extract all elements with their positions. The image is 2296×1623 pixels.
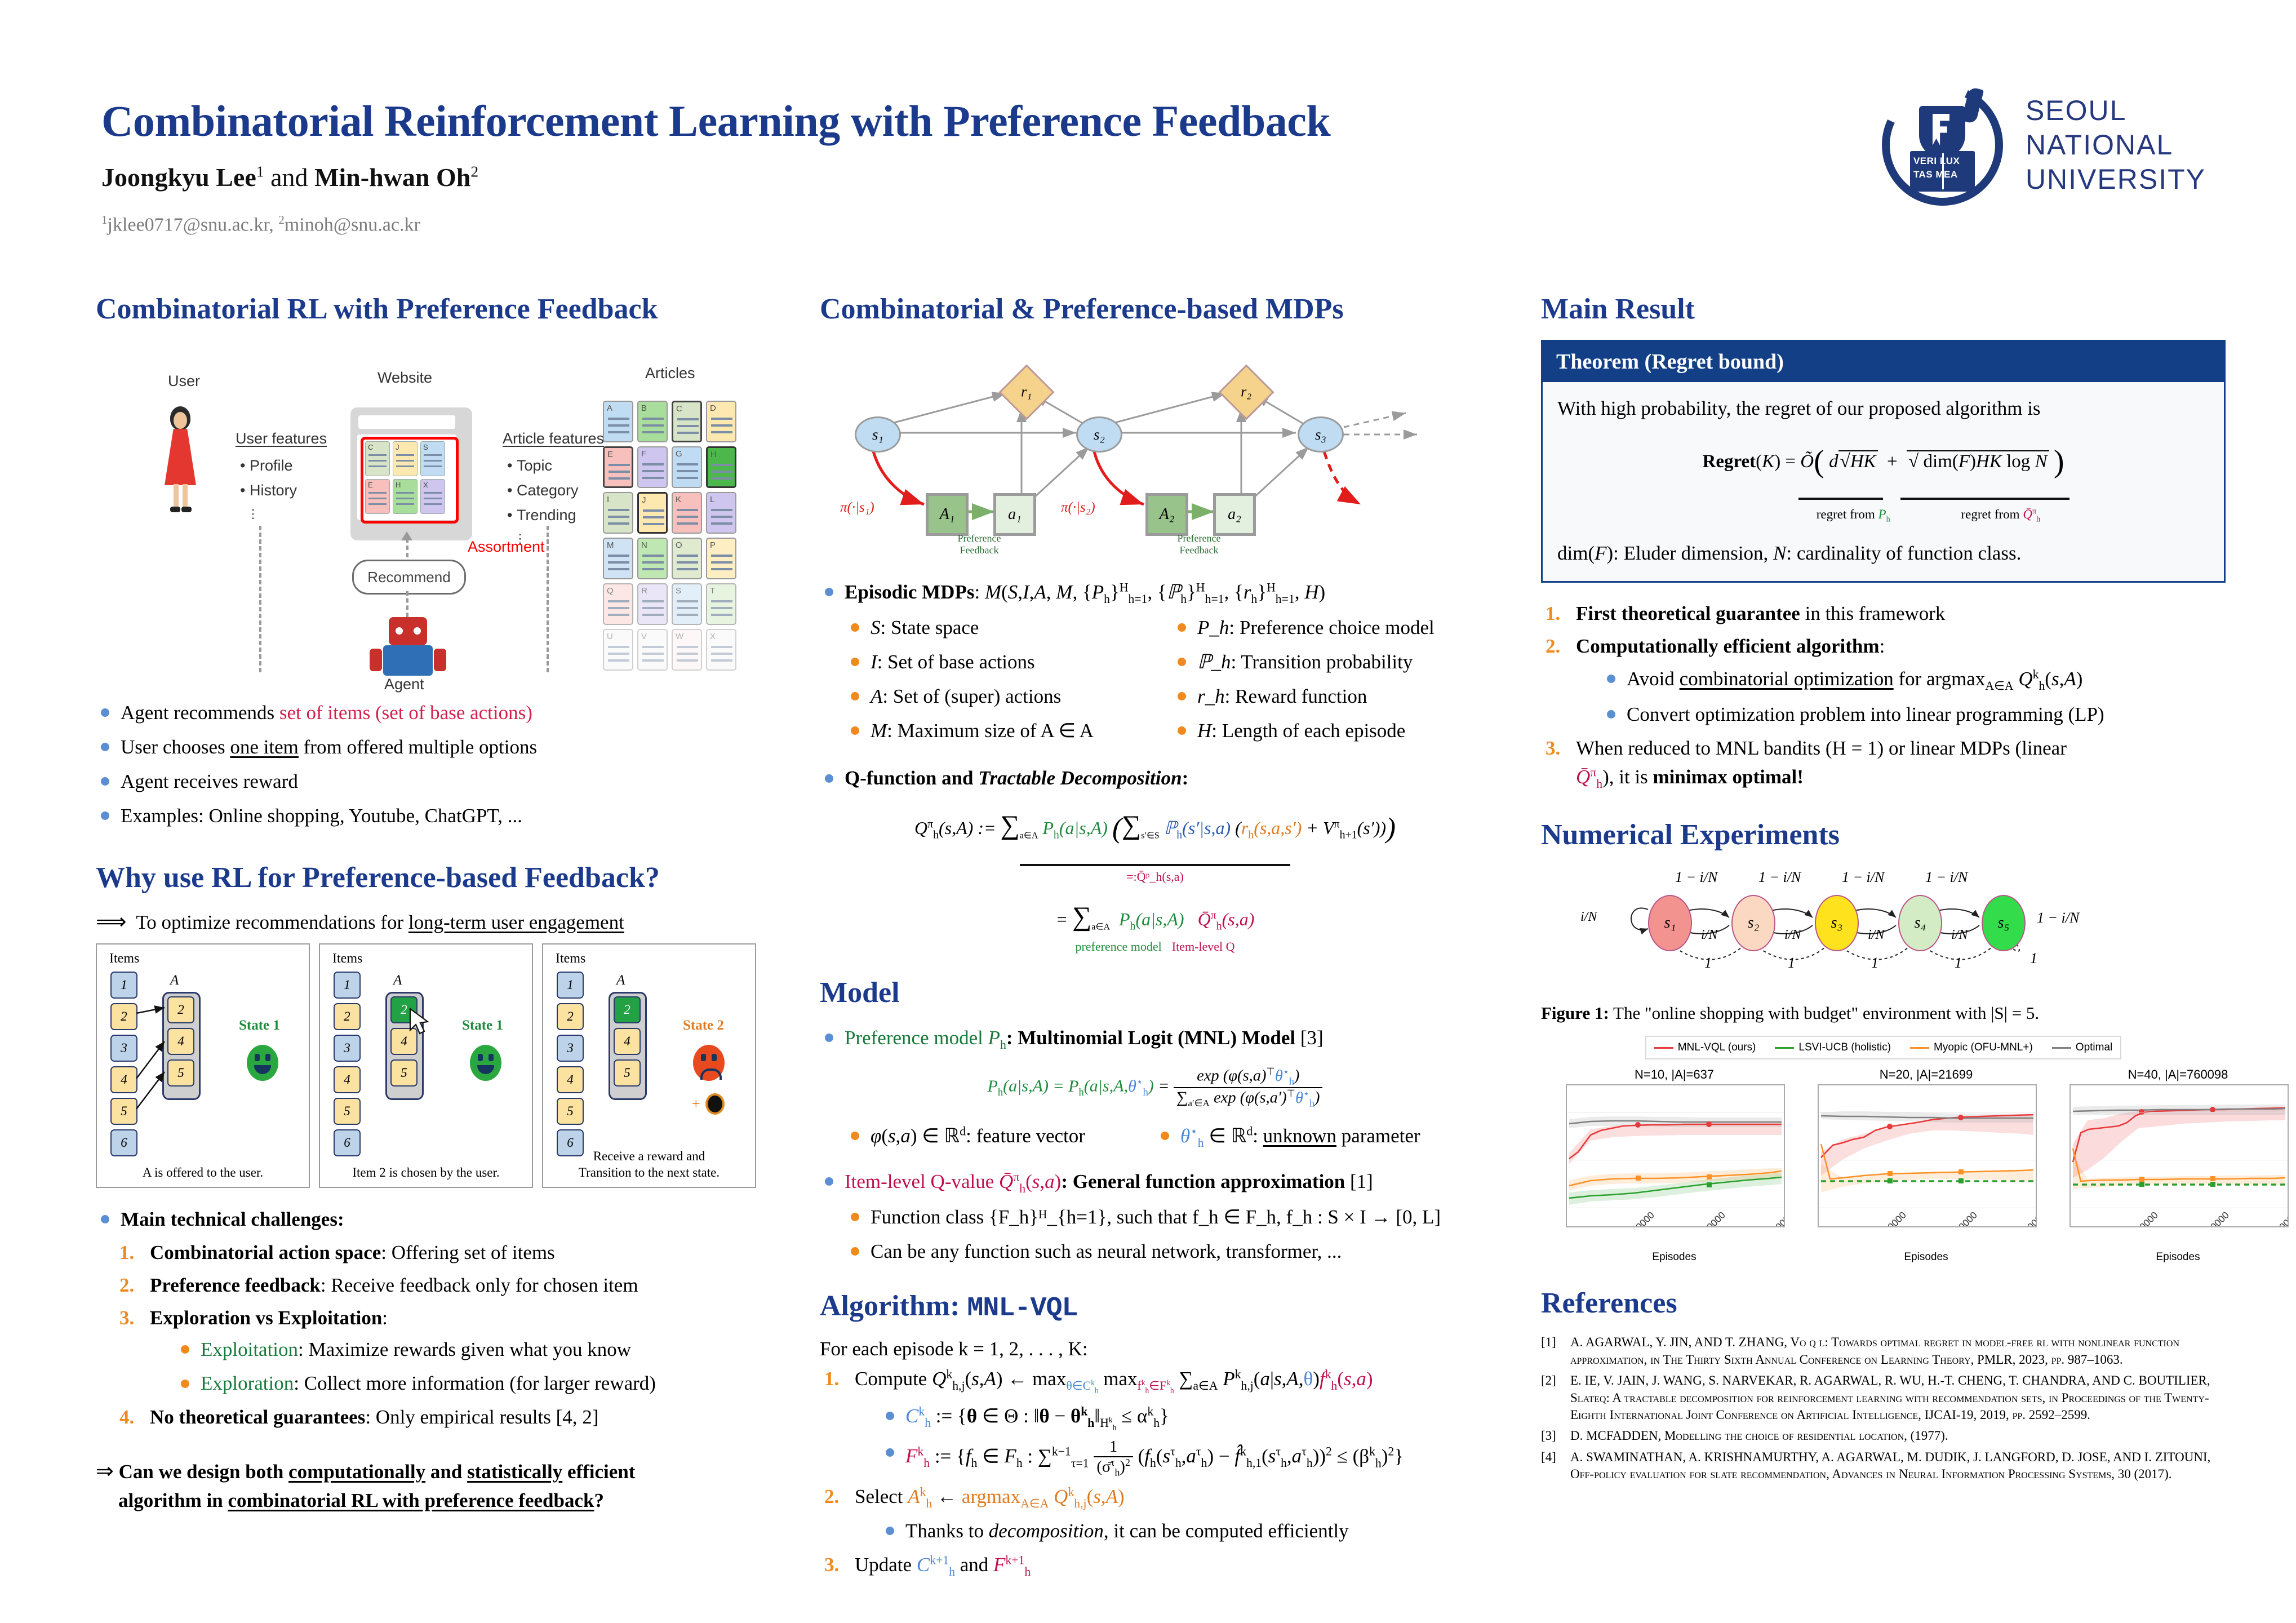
article-card: J <box>637 492 668 534</box>
cursor-icon <box>409 1008 437 1041</box>
item-box: 4 <box>334 1066 361 1093</box>
list-item: M: Maximum size of A ∈ A <box>846 716 1161 746</box>
article-card: L <box>706 492 736 534</box>
section-title-algorithm: Algorithm: MNL-VQL <box>820 1290 1490 1323</box>
base-action-node: a₂ <box>1213 493 1256 536</box>
plot-series-2 <box>2071 1085 2288 1226</box>
articles-grid: A B C D E F G H I J K L M N O P Q R S T <box>603 401 736 671</box>
crest-motto-a: VERI LUX <box>1913 156 1960 167</box>
item-level-q-bullet: Item-level Q-value Q̄πh(s,a): General fu… <box>820 1167 1490 1198</box>
article-card: E <box>603 446 633 488</box>
list-item: H: Length of each episode <box>1173 716 1490 746</box>
snu-crest-icon: VERI LUX TAS MEA <box>1882 85 2003 206</box>
happy-face-icon <box>247 1045 278 1081</box>
chain-left-label: i/N <box>1580 910 1597 925</box>
model-bullets: Preference model Ph: Multinomial Logit (… <box>820 1023 1490 1054</box>
reference-item: [2]E. IE, V. JAIN, J. WANG, S. NARVEKAR,… <box>1541 1372 2226 1424</box>
list-item: Q-function and Tractable Decomposition: <box>820 764 1490 793</box>
theorem-box: Theorem (Regret bound) With high probabi… <box>1541 340 2226 583</box>
university-name: SEOUL NATIONAL UNIVERSITY <box>2026 94 2206 197</box>
sad-face-icon <box>693 1045 725 1081</box>
list-item: Examples: Online shopping, Youtube, Chat… <box>96 801 761 831</box>
item-box: 1 <box>334 972 361 999</box>
qfunction-equation: Qπh(s,A) := ∑a∈A Ph(a|s,A) (∑s′∈S ℙh(s′|… <box>820 805 1490 850</box>
state-label: State 1 <box>462 1018 503 1034</box>
list-item: Convert optimization problem into linear… <box>1602 700 2226 729</box>
article-feature-trending: • Trending <box>507 507 576 524</box>
algorithm-note-list: Thanks to decomposition, it can be compu… <box>881 1516 1490 1546</box>
function-class-list: Function class {F_h}ᴴ_{h=1}, such that f… <box>846 1203 1490 1266</box>
list-item: Preference model Ph: Multinomial Logit (… <box>820 1023 1490 1054</box>
articles-label: Articles <box>645 365 695 382</box>
theorem-line-2: dim(F): Eluder dimension, N: cardinality… <box>1557 539 2209 568</box>
logo-line-1: SEOUL <box>2026 94 2206 128</box>
x-axis-label: Episodes <box>1566 1251 1783 1263</box>
item-box: 6 <box>334 1129 361 1156</box>
set-item-chosen: 2 <box>614 996 641 1023</box>
chain-mid-label: i/N <box>1784 928 1801 943</box>
mdp-graph-figure: r₁ r₂ s₁ s₂ s₃ A₁ a₁ A₂ a₂ PreferenceFee… <box>820 340 1490 565</box>
list-item: User chooses one item from offered multi… <box>96 733 761 762</box>
definitions-right: P_h: Preference choice model ℙ_h: Transi… <box>1173 613 1490 750</box>
set-label: A <box>170 973 179 988</box>
email-2: minoh@snu.ac.kr <box>285 214 420 235</box>
efficiency-sub-list: Avoid combinatorial optimization for arg… <box>1602 664 2226 729</box>
set-item: 4 <box>614 1028 641 1055</box>
underbrace-1: =:Q̄ᵖ_h(s,a) <box>820 855 1490 884</box>
user-avatar-icon <box>159 406 202 513</box>
panel-choose: Items 1 2 3 4 5 6 A 2 4 5 State 1 Ite <box>319 943 533 1188</box>
item-box: 5 <box>110 1098 137 1125</box>
article-card: O <box>672 538 702 579</box>
list-item: Combinatorial action space: Offering set… <box>115 1239 761 1267</box>
chain-mid-label: i/N <box>1951 928 1968 943</box>
set-item: 5 <box>614 1059 641 1087</box>
article-card: B <box>637 401 668 442</box>
plot-title: N=10, |A|=637 <box>1566 1067 1783 1082</box>
main-results-list: First theoretical guarantee in this fram… <box>1541 600 2226 793</box>
model-parameter-defs: φ(s,a) ∈ ℝd: feature vector θ⋆h ∈ ℝd: un… <box>846 1121 1490 1157</box>
poster-header: Combinatorial Reinforcement Learning wit… <box>0 0 2296 265</box>
list-item: P_h: Preference choice model <box>1173 613 1490 642</box>
feature-vector-def: φ(s,a) ∈ ℝd: feature vector <box>846 1121 1150 1157</box>
mdp-definitions: S: State space I: Set of base actions A:… <box>846 613 1490 750</box>
policy-label: π(·|s₂) <box>1061 500 1095 516</box>
item-box: 4 <box>110 1066 137 1093</box>
item-box: 6 <box>110 1129 137 1156</box>
chain-bottom-label: 1 <box>1871 955 1878 972</box>
chain-state: s₅ <box>1982 895 2026 951</box>
poster-root: Combinatorial Reinforcement Learning wit… <box>0 0 2296 1623</box>
items-label: Items <box>332 951 362 966</box>
list-item: Exploitation: Maximize rewards given wha… <box>176 1335 761 1364</box>
university-logo: VERI LUX TAS MEA SEOUL NATIONAL UNIVERSI… <box>1882 85 2206 206</box>
legend-item: MNL-VQL (ours) <box>1654 1041 1756 1054</box>
x-axis-label: Episodes <box>1818 1251 2035 1263</box>
list-item: Main technical challenges: <box>96 1205 761 1234</box>
super-action-node: A₂ <box>1145 493 1188 536</box>
item-box: 5 <box>334 1098 361 1125</box>
list-item: Select Akh ← argmaxA∈A Qkh,j(s,A) Thanks… <box>820 1483 1490 1545</box>
panel-reward: Items 1 2 3 4 5 6 A 2 4 5 State 2 + Re <box>542 943 756 1188</box>
experiment-plots: MNL-VQL (ours) LSVI-UCB (holistic) Myopi… <box>1541 1036 2226 1263</box>
list-item: ℙ_h: Transition probability <box>1173 648 1490 677</box>
article-card: D <box>706 401 736 442</box>
intro-bullets: Agent recommends set of items (set of ba… <box>96 698 761 830</box>
panel-caption: Receive a reward andTransition to the ne… <box>543 1148 755 1181</box>
reference-item: [4]A. SWAMINATHAN, A. KRISHNAMURTHY, A. … <box>1541 1449 2226 1483</box>
brace-label-right: regret from Q̄πh <box>1961 507 2040 521</box>
article-card: U <box>603 629 633 671</box>
challenges-list: Combinatorial action space: Offering set… <box>115 1239 761 1432</box>
recommendation-pipeline-figure: User Website Articles User features • Pr… <box>96 340 761 689</box>
article-card: H <box>706 446 736 488</box>
list-item: S: State space <box>846 613 1161 642</box>
closing-line-1: Can we design both computationally and s… <box>119 1461 636 1483</box>
website-label: Website <box>378 369 432 387</box>
item-box: 5 <box>557 1098 584 1125</box>
set-item: 2 <box>167 996 194 1023</box>
list-item: Update Ck+1h and Fk+1h <box>820 1551 1490 1581</box>
article-card: P <box>706 538 736 579</box>
episodic-mdp-bullet: Episodic MDPs: M(S,I,A, M, {Ph}Hh=1, {ℙh… <box>820 578 1490 608</box>
section-title-combinatorial-rl: Combinatorial RL with Preference Feedbac… <box>96 293 761 325</box>
plot-n20: N=20, |A|=21699 0.7 0.5 0.3 <box>1818 1067 2035 1263</box>
section-title-references: References <box>1541 1287 2226 1319</box>
state-node: s₃ <box>1298 416 1344 453</box>
chain-state: s₄ <box>1898 895 1942 951</box>
figure-caption: Figure 1: The "online shopping with budg… <box>1541 1003 2226 1023</box>
base-action-node: a₁ <box>993 493 1036 536</box>
article-card: K <box>672 492 702 534</box>
state-node: s₂ <box>1076 416 1122 453</box>
items-label: Items <box>556 951 585 966</box>
column-right: Main Result Theorem (Regret bound) With … <box>1541 293 2226 1487</box>
user-features-ellipsis: ⋮ <box>247 507 259 521</box>
legend-item: LSVI-UCB (holistic) <box>1775 1041 1891 1054</box>
article-features-ellipsis: ⋮ <box>514 531 526 546</box>
chain-bottom-label: 1 <box>1955 955 1962 972</box>
column-left: Combinatorial RL with Preference Feedbac… <box>96 293 761 1514</box>
section-title-numerical: Numerical Experiments <box>1541 819 2226 851</box>
assortment-highlight <box>361 437 459 524</box>
chain-top-label: 1 − i/N <box>1675 869 1717 886</box>
list-item: Item-level Q-value Q̄πh(s,a): General fu… <box>820 1167 1490 1198</box>
chain-mid-label: i/N <box>1701 928 1717 943</box>
coin-icon <box>705 1093 725 1115</box>
definitions-left: S: State space I: Set of base actions A:… <box>846 613 1161 750</box>
item-box: 3 <box>334 1035 361 1062</box>
theorem-braces: regret from Ph regret from Q̄πh <box>1557 486 2209 526</box>
list-item: Preference feedback: Receive feedback on… <box>115 1271 761 1300</box>
list-item: Fkh := {fh ∈ Fh : ∑k−1τ=1 1(σ̄τh)2 (fh(s… <box>881 1438 1490 1478</box>
brace-label-left: regret from Ph <box>1817 507 1890 521</box>
item-box: 4 <box>557 1066 584 1093</box>
chain-bottom-label: 1 <box>1788 955 1795 972</box>
chain-mid-label: i/N <box>1868 928 1884 943</box>
emails-line: 1jklee0717@snu.ac.kr, 2minoh@snu.ac.kr <box>101 213 420 236</box>
chain-self-label: 1 <box>2030 950 2037 967</box>
list-item: Exploration: Collect more information (f… <box>176 1369 761 1398</box>
section-title-model: Model <box>820 977 1490 1009</box>
panel-offer: Items 1 2 3 4 5 6 A 2 4 5 State 1 <box>96 943 310 1188</box>
theta-def: θ⋆h ∈ ℝd: unknown parameter <box>1156 1121 1490 1157</box>
chain-state: s₃ <box>1815 895 1859 951</box>
state-node: s₁ <box>855 416 901 453</box>
user-feature-history: • History <box>240 482 297 499</box>
chain-top-label: 1 − i/N <box>1925 869 1968 886</box>
article-card: W <box>672 629 702 671</box>
article-card: V <box>637 629 668 671</box>
plot-row: N=10, |A|=637 0.7 0.5 0.3 <box>1541 1067 2226 1263</box>
chain-top-label: 1 − i/N <box>1842 869 1884 886</box>
section-title-main-result: Main Result <box>1541 293 2226 325</box>
list-item: Ckh := {θ ∈ Θ : ‖θ − θkh‖Hkh ≤ αkh} <box>881 1402 1490 1433</box>
algorithm-sets: Ckh := {θ ∈ Θ : ‖θ − θkh‖Hkh ≤ αkh} Fkh … <box>881 1402 1490 1478</box>
user-features-title: User features <box>236 430 327 447</box>
set-item: 4 <box>167 1028 194 1055</box>
reward-label: + <box>692 1096 700 1112</box>
panel-caption: Item 2 is chosen by the user. <box>320 1165 532 1181</box>
item-box: 2 <box>110 1003 137 1030</box>
panel-caption: A is offered to the user. <box>97 1165 309 1181</box>
plot-title: N=20, |A|=21699 <box>1818 1067 2035 1082</box>
author-2: Min-hwan Oh <box>314 163 470 192</box>
article-card: S <box>672 583 702 625</box>
set-label: A <box>616 973 625 988</box>
list-item: Compute Qkh,j(s,A) ← maxθ∈Ckh maxfkh∈Fkh… <box>820 1365 1490 1478</box>
page-title: Combinatorial Reinforcement Learning wit… <box>101 96 1330 147</box>
item-box: 3 <box>110 1035 137 1062</box>
list-item: Episodic MDPs: M(S,I,A, M, {Ph}Hh=1, {ℙh… <box>820 578 1490 608</box>
list-item: Function class {F_h}ᴴ_{h=1}, such that f… <box>846 1203 1490 1232</box>
plot-series-0 <box>1567 1085 1784 1226</box>
algorithm-intro: For each episode k = 1, 2, . . . , K: <box>820 1338 1490 1360</box>
plot-title: N=40, |A|=760098 <box>2069 1067 2286 1082</box>
super-action-node: A₁ <box>926 493 969 536</box>
x-axis-label: Episodes <box>2069 1251 2286 1263</box>
user-label: User <box>168 373 200 390</box>
item-selection-figure: Items 1 2 3 4 5 6 A 2 4 5 State 1 <box>96 943 761 1191</box>
list-item: Agent receives reward <box>96 767 761 796</box>
authors-conjunction: and <box>264 163 314 192</box>
article-features-title: Article features <box>503 430 604 447</box>
set-item: 5 <box>390 1059 418 1087</box>
list-item: r_h: Reward function <box>1173 682 1490 711</box>
section-title-why-rl: Why use RL for Preference-based Feedback… <box>96 862 761 894</box>
list-item: No theoretical guarantees: Only empirica… <box>115 1403 761 1432</box>
article-card: G <box>672 446 702 488</box>
list-item: Can be any function such as neural netwo… <box>846 1237 1490 1266</box>
logo-line-3: UNIVERSITY <box>2026 162 2206 197</box>
plot-n40: N=40, |A|=760098 0.7 0.5 0.3 <box>2069 1067 2286 1263</box>
article-card: R <box>637 583 668 625</box>
assortment-label: Assortment <box>468 538 545 556</box>
references-list: [1]A. AGARWAL, Y. JIN, AND T. ZHANG, Vo … <box>1541 1334 2226 1483</box>
preference-feedback-label: PreferenceFeedback <box>954 533 1005 556</box>
list-item: When reduced to MNL bandits (H = 1) or l… <box>1541 734 2226 793</box>
plot-n10: N=10, |A|=637 0.7 0.5 0.3 <box>1566 1067 1783 1263</box>
article-card: I <box>603 492 633 534</box>
list-item: Computationally efficient algorithm: Avo… <box>1541 632 2226 729</box>
optimize-line: ⟹ To optimize recommendations for long-t… <box>96 909 761 934</box>
legend-item: Optimal <box>2052 1041 2112 1054</box>
legend-item: Myopic (OFU-MNL+) <box>1910 1041 2033 1054</box>
preference-feedback-label: PreferenceFeedback <box>1174 533 1224 556</box>
qfunction-decomposition: = ∑a∈A Ph(a|s,A) Q̄πh(s,a) <box>820 897 1490 937</box>
agent-robot-icon <box>366 617 451 682</box>
chain-state: s₂ <box>1731 895 1775 951</box>
state-label: State 1 <box>239 1018 280 1034</box>
list-item: θ⋆h ∈ ℝd: unknown parameter <box>1156 1121 1490 1152</box>
item-box: 1 <box>110 972 137 999</box>
chain-top-label: 1 − i/N <box>1758 869 1801 886</box>
plot-canvas: 0.7 0.5 0.3 <box>2069 1084 2289 1227</box>
chain-mdp-figure: s₁ s₂ s₃ s₄ s₅ 1 − i/N 1 − i/N 1 − i/N 1… <box>1541 866 2226 995</box>
item-box: 3 <box>557 1035 584 1062</box>
authors-line: Joongkyu Lee1 and Min-hwan Oh2 <box>101 162 478 192</box>
article-feature-category: • Category <box>507 482 579 499</box>
reference-item: [1]A. AGARWAL, Y. JIN, AND T. ZHANG, Vo … <box>1541 1334 2226 1368</box>
list-item: First theoretical guarantee in this fram… <box>1541 600 2226 628</box>
chain-bottom-label: 1 <box>1704 955 1712 972</box>
mnl-equation: Ph(a|s,A) = Ph(a|s,A,θ⋆h) = exp (φ(s,a)⊤… <box>820 1066 1490 1109</box>
article-card: A <box>603 401 633 442</box>
chain-state: s₁ <box>1648 895 1692 951</box>
list-item: A: Set of (super) actions <box>846 682 1161 711</box>
set-label: A <box>393 973 402 988</box>
qfunction-bullet: Q-function and Tractable Decomposition: <box>820 764 1490 793</box>
article-card: C <box>672 401 702 442</box>
items-label: Items <box>109 951 139 966</box>
list-item: Agent recommends set of items (set of ba… <box>96 698 761 728</box>
challenges-bullet: Main technical challenges: <box>96 1205 761 1234</box>
happy-face-icon <box>470 1045 501 1081</box>
user-feature-profile: • Profile <box>240 457 293 475</box>
email-1: jklee0717@snu.ac.kr, <box>108 214 279 235</box>
regret-equation: Regret(K) = Õ( d√HK + √ dim(F)HK log N ) <box>1557 438 2209 485</box>
underbrace-2: preference modelItem-level Q <box>820 939 1490 954</box>
article-card: T <box>706 583 736 625</box>
list-item: Avoid combinatorial optimization for arg… <box>1602 664 2226 695</box>
recommend-button[interactable]: Recommend <box>352 560 466 595</box>
list-item: φ(s,a) ∈ ℝd: feature vector <box>846 1121 1150 1151</box>
algorithm-steps: Compute Qkh,j(s,A) ← maxθ∈Ckh maxfkh∈Fkh… <box>820 1365 1490 1581</box>
plot-legend: MNL-VQL (ours) LSVI-UCB (holistic) Myopi… <box>1645 1036 2122 1059</box>
article-card: F <box>637 446 668 488</box>
closing-question: ⇒ Can we design both computationally and… <box>96 1457 761 1514</box>
list-item: I: Set of base actions <box>846 648 1161 677</box>
article-card: N <box>637 538 668 579</box>
item-box: 2 <box>557 1003 584 1030</box>
list-item: Thanks to decomposition, it can be compu… <box>881 1516 1490 1546</box>
logo-line-2: NATIONAL <box>2026 128 2206 162</box>
article-card: M <box>603 538 633 579</box>
article-card: X <box>706 629 736 671</box>
list-item: Exploration vs Exploitation: Exploitatio… <box>115 1304 761 1398</box>
chain-right-label: 1 − i/N <box>2037 910 2079 926</box>
plot-canvas: 0.7 0.5 0.3 <box>1818 1084 2037 1227</box>
agent-label: Agent <box>384 676 424 693</box>
item-box: 1 <box>557 972 584 999</box>
theorem-header: Theorem (Regret bound) <box>1543 342 2224 382</box>
author-1: Joongkyu Lee <box>101 163 256 192</box>
article-card: Q <box>603 583 633 625</box>
website-mock: C J S E H X <box>350 407 472 540</box>
policy-label: π(·|s₁) <box>840 500 874 516</box>
plot-canvas: 0.7 0.5 0.3 <box>1566 1084 1785 1227</box>
plot-series-1 <box>1819 1085 2036 1226</box>
crest-motto-b: TAS MEA <box>1913 169 1958 180</box>
column-middle: Combinatorial & Preference-based MDPs <box>820 293 1490 1585</box>
article-feature-topic: • Topic <box>507 457 552 475</box>
exploration-exploitation-list: Exploitation: Maximize rewards given wha… <box>176 1335 761 1399</box>
section-title-mdps: Combinatorial & Preference-based MDPs <box>820 293 1490 325</box>
theorem-body: With high probability, the regret of our… <box>1543 382 2224 581</box>
reference-item: [3]D. MCFADDEN, Modelling the choice of … <box>1541 1427 2226 1444</box>
state-label: State 2 <box>683 1018 724 1034</box>
set-item: 5 <box>167 1059 194 1087</box>
closing-line-2: algorithm in combinatorial RL with prefe… <box>118 1487 604 1514</box>
item-box: 2 <box>334 1003 361 1030</box>
theorem-line-1: With high probability, the regret of our… <box>1557 394 2209 423</box>
